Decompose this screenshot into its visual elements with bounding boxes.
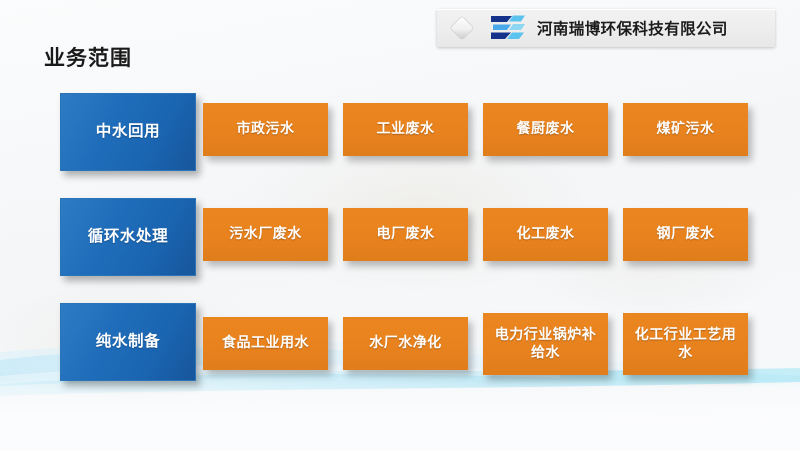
item-label: 电力行业锅炉补给水 [483, 326, 608, 363]
company-logo-mark-icon [491, 15, 525, 41]
item-label: 餐厨废水 [511, 121, 581, 139]
company-logo-bar: 河南瑞博环保科技有限公司 [437, 9, 775, 47]
item-box-kitchen-wastewater[interactable]: 餐厨废水 [483, 103, 608, 156]
item-box-industrial-wastewater[interactable]: 工业废水 [343, 103, 468, 156]
item-label: 工业废水 [371, 121, 441, 139]
item-label: 食品工业用水 [216, 335, 315, 353]
item-label: 煤矿污水 [651, 121, 721, 139]
company-name-label: 河南瑞博环保科技有限公司 [537, 17, 728, 39]
item-box-municipal-sewage[interactable]: 市政污水 [203, 103, 328, 156]
category-label: 循环水处理 [82, 227, 175, 246]
slide-canvas: 河南瑞博环保科技有限公司 业务范围 中水回用 市政污水 工业废水 餐厨废水 煤矿… [0, 0, 800, 450]
item-label: 钢厂废水 [651, 226, 721, 244]
category-label: 纯水制备 [90, 332, 166, 351]
category-box-reclaimed-water[interactable]: 中水回用 [60, 93, 196, 171]
item-label: 污水厂废水 [223, 226, 308, 244]
item-label: 化工行业工艺用水 [623, 326, 748, 363]
item-box-chemical-wastewater[interactable]: 化工废水 [483, 208, 608, 261]
category-box-pure-water[interactable]: 纯水制备 [60, 303, 196, 381]
background-bottom-fade [0, 380, 800, 450]
category-label: 中水回用 [90, 122, 166, 141]
item-box-coal-mine-sewage[interactable]: 煤矿污水 [623, 103, 748, 156]
item-box-power-boiler-makeup-water[interactable]: 电力行业锅炉补给水 [483, 313, 608, 375]
item-label: 市政污水 [231, 121, 301, 139]
item-label: 水厂水净化 [363, 335, 448, 353]
item-box-water-plant-purification[interactable]: 水厂水净化 [343, 317, 468, 370]
category-box-circulating-water[interactable]: 循环水处理 [60, 198, 196, 276]
item-box-sewage-plant-wastewater[interactable]: 污水厂废水 [203, 208, 328, 261]
item-label: 化工废水 [511, 226, 581, 244]
item-box-steel-plant-wastewater[interactable]: 钢厂废水 [623, 208, 748, 261]
item-box-power-plant-wastewater[interactable]: 电厂废水 [343, 208, 468, 261]
item-label: 电厂废水 [371, 226, 441, 244]
diamond-icon [447, 13, 477, 43]
page-title: 业务范围 [44, 42, 132, 72]
item-box-chemical-process-water[interactable]: 化工行业工艺用水 [623, 313, 748, 375]
item-box-food-industry-water[interactable]: 食品工业用水 [203, 317, 328, 370]
